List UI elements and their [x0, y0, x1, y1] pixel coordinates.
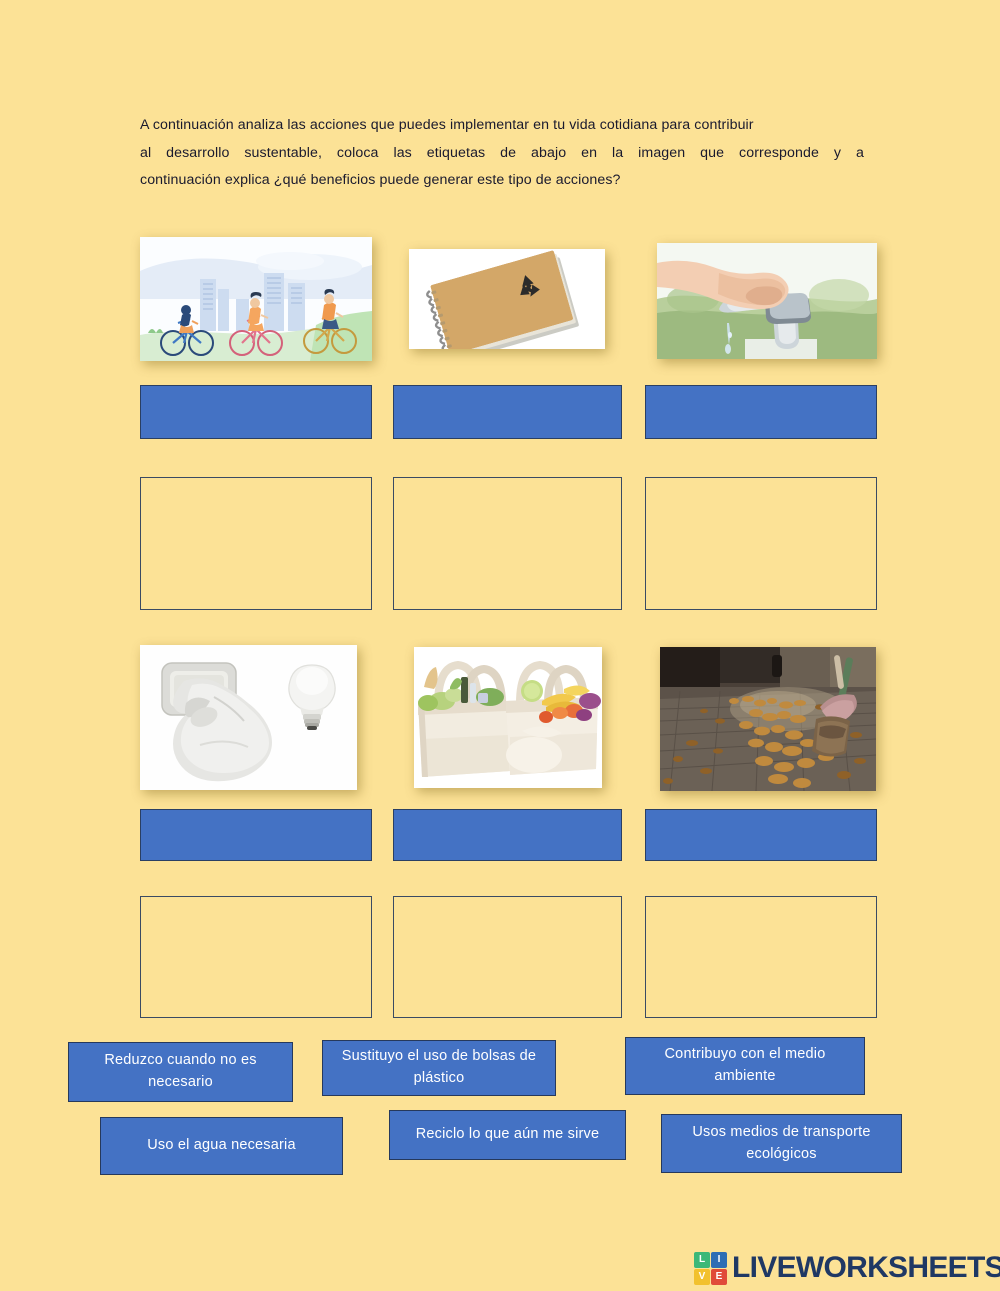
image-sweeping-street-leaves	[660, 647, 876, 791]
worksheet-page: A continuación analiza las acciones que …	[0, 0, 1000, 1291]
image-hand-light-switch-bulb	[140, 645, 357, 790]
image-cyclists-city-illustration	[140, 237, 372, 361]
tag-reduzco-cuando-no-es-necesario[interactable]: Reduzco cuando no es necesario	[68, 1042, 293, 1102]
dropzone-cyclists[interactable]	[140, 385, 372, 439]
logo-block-l: L	[694, 1252, 710, 1268]
instruction-line-3: continuación explica ¿qué beneficios pue…	[140, 167, 864, 195]
answer-box-faucet[interactable]	[645, 477, 877, 610]
logo-block-i: I	[711, 1252, 727, 1268]
answer-box-notebook[interactable]	[393, 477, 622, 610]
tag-reciclo-lo-que-aun-me-sirve[interactable]: Reciclo lo que aún me sirve	[389, 1110, 626, 1160]
dropzone-sweeping[interactable]	[645, 809, 877, 861]
instruction-line-2: al desarrollo sustentable, coloca las et…	[140, 140, 864, 168]
tag-uso-agua-necesaria[interactable]: Uso el agua necesaria	[100, 1117, 343, 1175]
answer-box-sweeping[interactable]	[645, 896, 877, 1018]
answer-box-cyclists[interactable]	[140, 477, 372, 610]
dropzone-shopping-bags[interactable]	[393, 809, 622, 861]
image-reusable-shopping-bags	[414, 647, 602, 788]
instructions-text: A continuación analiza las acciones que …	[140, 112, 864, 195]
instruction-line-1: A continuación analiza las acciones que …	[140, 112, 864, 140]
logo-wordmark: LIVEWORKSHEETS	[732, 1251, 1000, 1285]
image-recycled-paper-notebook	[409, 249, 605, 349]
dropzone-notebook[interactable]	[393, 385, 622, 439]
logo-block-v: V	[694, 1269, 710, 1285]
liveworksheets-logo[interactable]: L I V E LIVEWORKSHEETS	[694, 1251, 1000, 1285]
dropzone-light-switch[interactable]	[140, 809, 372, 861]
logo-letter-blocks: L I V E	[694, 1252, 727, 1285]
image-hand-closing-faucet	[657, 243, 877, 359]
tag-contribuyo-medio-ambiente[interactable]: Contribuyo con el medio ambiente	[625, 1037, 865, 1095]
logo-block-e: E	[711, 1269, 727, 1285]
tag-usos-medios-transporte-ecologicos[interactable]: Usos medios de transporte ecológicos	[661, 1114, 902, 1173]
dropzone-faucet[interactable]	[645, 385, 877, 439]
answer-box-light-switch[interactable]	[140, 896, 372, 1018]
tag-sustituyo-uso-bolsas-plastico[interactable]: Sustituyo el uso de bolsas de plástico	[322, 1040, 556, 1096]
answer-box-shopping-bags[interactable]	[393, 896, 622, 1018]
